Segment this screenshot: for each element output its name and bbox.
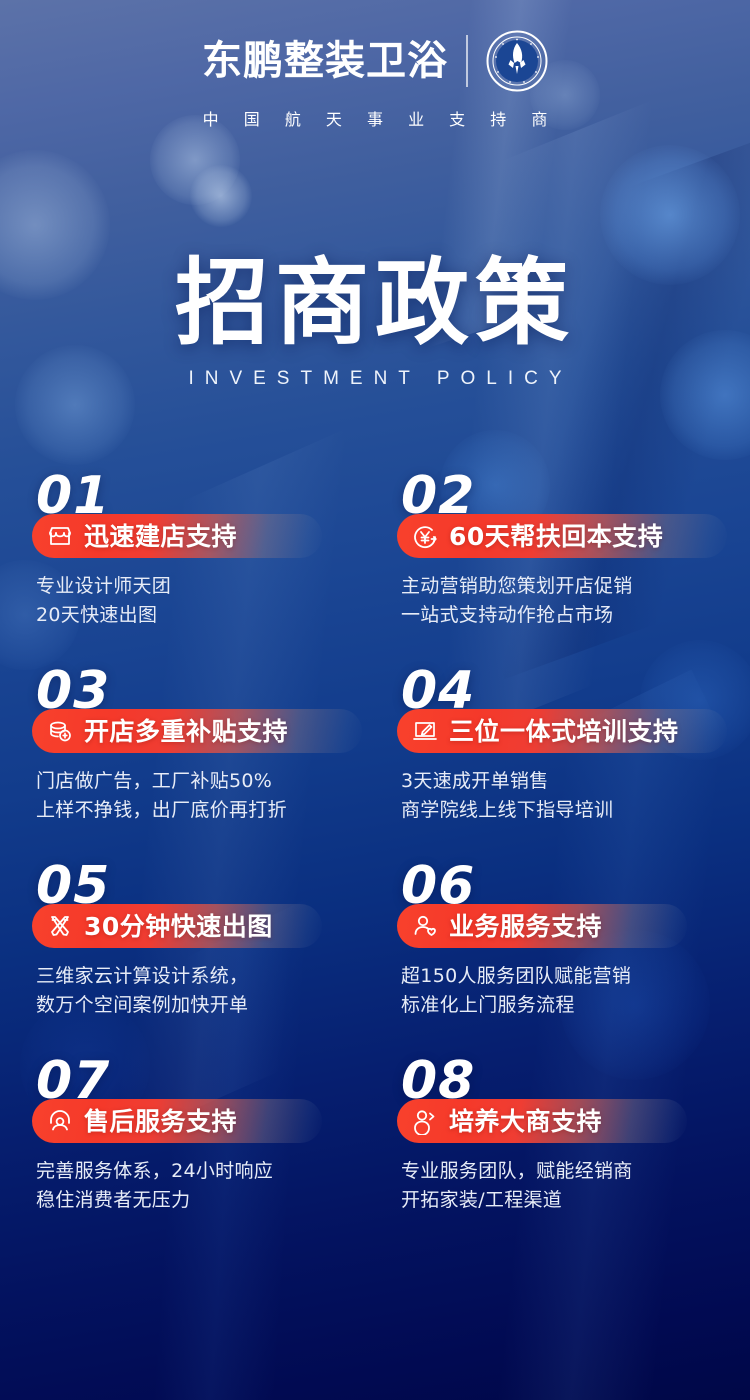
headset-support-icon bbox=[46, 1107, 74, 1135]
storefront-icon bbox=[46, 522, 74, 550]
item-description: 三维家云计算设计系统， 数万个空间案例加快开单 bbox=[36, 962, 375, 1020]
item-description: 超150人服务团队赋能营销 标准化上门服务流程 bbox=[401, 962, 750, 1020]
description-line: 稳住消费者无压力 bbox=[36, 1186, 375, 1215]
description-line: 数万个空间案例加快开单 bbox=[36, 991, 375, 1020]
item-title-pill: 迅速建店支持 bbox=[32, 514, 322, 558]
item-title-pill: 业务服务支持 bbox=[397, 904, 687, 948]
item-title-pill: 培养大商支持 bbox=[397, 1099, 687, 1143]
policy-item-02: 02 60天帮扶回本支持 主动营销助您策划开店促销 一站式支持动作抢占市场 bbox=[375, 470, 750, 665]
page-title: 招商政策 bbox=[0, 255, 750, 354]
item-title: 30分钟快速出图 bbox=[84, 914, 273, 939]
brand-header: 东鹏整装卫浴 bbox=[0, 0, 750, 160]
item-title: 迅速建店支持 bbox=[84, 524, 237, 549]
description-line: 专业服务团队，赋能经销商 bbox=[401, 1157, 750, 1186]
description-line: 标准化上门服务流程 bbox=[401, 991, 750, 1020]
item-title-pill: 售后服务支持 bbox=[32, 1099, 322, 1143]
description-line: 开拓家装/工程渠道 bbox=[401, 1186, 750, 1215]
description-line: 超150人服务团队赋能营销 bbox=[401, 962, 750, 991]
item-title: 三位一体式培训支持 bbox=[449, 719, 679, 744]
brand-subtitle: 中 国 航 天 事 业 支 持 商 bbox=[193, 106, 558, 130]
policy-item-05: 05 30分钟快速出图 三维家云计算设计系统， 数万个空间案例加快开单 bbox=[0, 860, 375, 1055]
policy-item-03: 03 开店多重补贴支持 门店做广告，工厂补贴50% 上样不挣钱，出厂底价再打折 bbox=[0, 665, 375, 860]
brand-name: 东鹏整装卫浴 bbox=[202, 41, 448, 81]
item-title: 60天帮扶回本支持 bbox=[449, 524, 663, 549]
policy-item-06: 06 业务服务支持 超150人服务团队赋能营销 标准化上门服务流程 bbox=[375, 860, 750, 1055]
item-description: 专业设计师天团 20天快速出图 bbox=[36, 572, 375, 630]
description-line: 门店做广告，工厂补贴50% bbox=[36, 767, 375, 796]
space-program-badge-icon bbox=[486, 30, 548, 92]
person-heart-service-icon bbox=[411, 912, 439, 940]
item-description: 主动营销助您策划开店促销 一站式支持动作抢占市场 bbox=[401, 572, 750, 630]
item-title-pill: 30分钟快速出图 bbox=[32, 904, 322, 948]
description-line: 上样不挣钱，出厂底价再打折 bbox=[36, 796, 375, 825]
page-subtitle: INVESTMENT POLICY bbox=[0, 368, 750, 390]
policy-item-08: 08 培养大商支持 专业服务团队，赋能经销商 开拓家装/工程渠道 bbox=[375, 1055, 750, 1250]
description-line: 3天速成开单销售 bbox=[401, 767, 750, 796]
item-title: 培养大商支持 bbox=[449, 1109, 602, 1134]
item-description: 门店做广告，工厂补贴50% 上样不挣钱，出厂底价再打折 bbox=[36, 767, 375, 825]
item-title-pill: 三位一体式培训支持 bbox=[397, 709, 727, 753]
item-title-pill: 60天帮扶回本支持 bbox=[397, 514, 727, 558]
description-line: 专业设计师天团 bbox=[36, 572, 375, 601]
item-description: 完善服务体系，24小时响应 稳住消费者无压力 bbox=[36, 1157, 375, 1215]
description-line: 三维家云计算设计系统， bbox=[36, 962, 375, 991]
description-line: 一站式支持动作抢占市场 bbox=[401, 601, 750, 630]
coins-subsidy-icon bbox=[46, 717, 74, 745]
yen-refund-icon bbox=[411, 522, 439, 550]
policy-item-04: 04 三位一体式培训支持 3天速成开单销售 商学院线上线下指导培训 bbox=[375, 665, 750, 860]
item-description: 专业服务团队，赋能经销商 开拓家装/工程渠道 bbox=[401, 1157, 750, 1215]
pencil-ruler-cross-icon bbox=[46, 912, 74, 940]
person-grow-icon bbox=[411, 1107, 439, 1135]
description-line: 主动营销助您策划开店促销 bbox=[401, 572, 750, 601]
bokeh-light-decoration bbox=[190, 165, 252, 227]
policy-item-07: 07 售后服务支持 完善服务体系，24小时响应 稳住消费者无压力 bbox=[0, 1055, 375, 1250]
laptop-pen-training-icon bbox=[411, 717, 439, 745]
investment-policy-poster: 东鹏整装卫浴 bbox=[0, 0, 750, 1400]
description-line: 完善服务体系，24小时响应 bbox=[36, 1157, 375, 1186]
policy-items-grid: 01 迅速建店支持 专业设计师天团 20天快速出图 bbox=[0, 470, 750, 1250]
description-line: 商学院线上线下指导培训 bbox=[401, 796, 750, 825]
item-title-pill: 开店多重补贴支持 bbox=[32, 709, 362, 753]
description-line: 20天快速出图 bbox=[36, 601, 375, 630]
item-title: 开店多重补贴支持 bbox=[84, 719, 288, 744]
item-title: 售后服务支持 bbox=[84, 1109, 237, 1134]
item-description: 3天速成开单销售 商学院线上线下指导培训 bbox=[401, 767, 750, 825]
brand-row: 东鹏整装卫浴 bbox=[202, 30, 548, 92]
brand-divider bbox=[466, 35, 468, 87]
title-block: 招商政策 INVESTMENT POLICY bbox=[0, 255, 750, 390]
item-title: 业务服务支持 bbox=[449, 914, 602, 939]
policy-item-01: 01 迅速建店支持 专业设计师天团 20天快速出图 bbox=[0, 470, 375, 665]
